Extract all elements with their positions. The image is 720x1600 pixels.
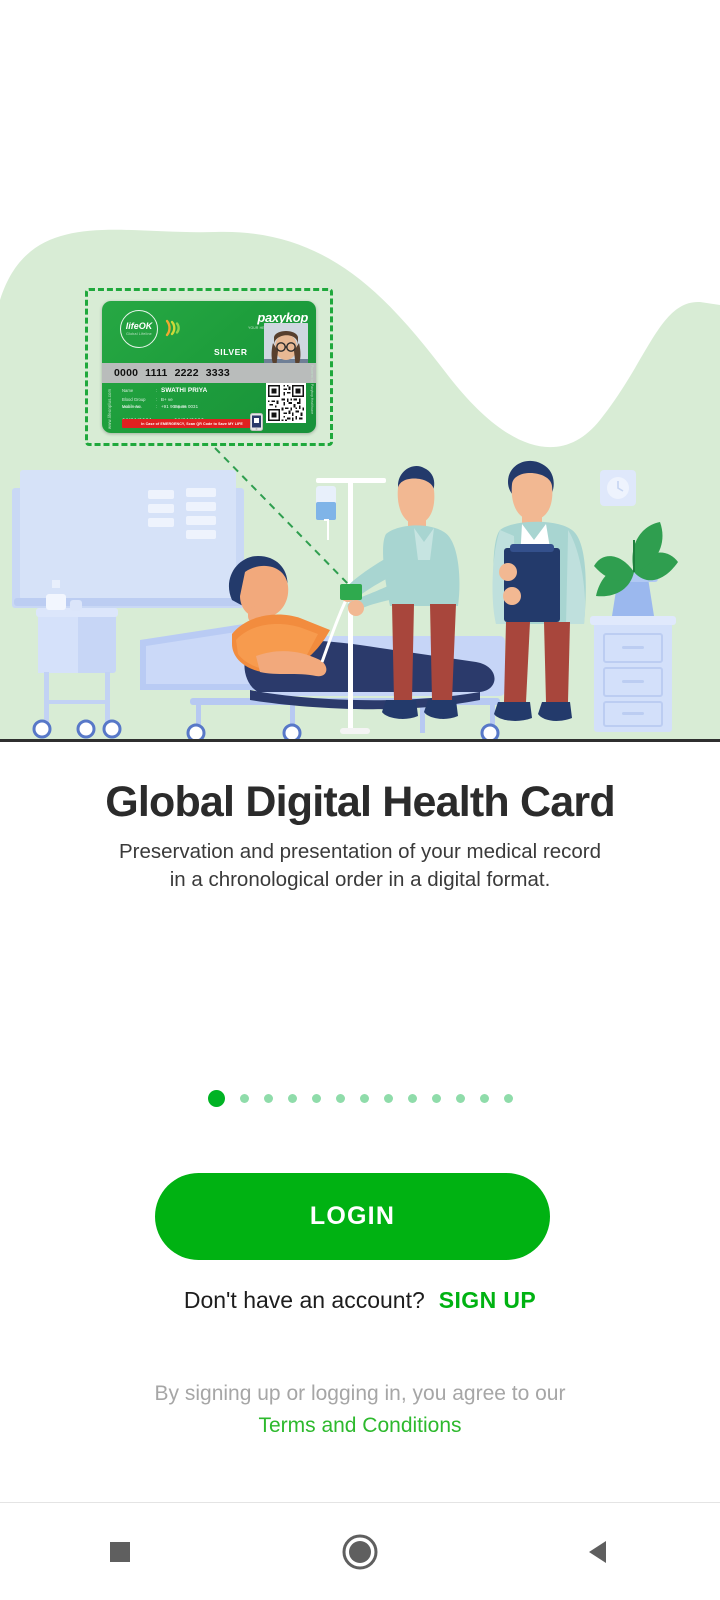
- carousel-dot-5[interactable]: [336, 1094, 345, 1103]
- digital-health-card: www.lifeonplus.com lifeOK Global Lifelin…: [102, 301, 316, 433]
- emergency-banner: In Case of EMERGENCY, Scan QR Code to Sa…: [122, 419, 262, 428]
- carousel-dot-1[interactable]: [240, 1094, 249, 1103]
- phone-scan-icon: [250, 413, 263, 431]
- recents-square-icon: [107, 1539, 133, 1565]
- field-label: Blood Group: [122, 397, 156, 402]
- qr-code-icon: [266, 383, 306, 423]
- signup-prompt-row: Don't have an account? SIGN UP: [0, 1287, 720, 1314]
- carousel-dot-2[interactable]: [264, 1094, 273, 1103]
- carousel-dot-7[interactable]: [384, 1094, 393, 1103]
- expires-label: Expires: [174, 405, 204, 409]
- back-triangle-icon: [585, 1537, 615, 1567]
- health-card-callout: www.lifeonplus.com lifeOK Global Lifelin…: [85, 288, 333, 446]
- login-button[interactable]: LOGIN: [155, 1173, 550, 1260]
- card-number-group-2: 1111: [145, 367, 167, 379]
- logo-primary-text: lifeOK: [126, 322, 153, 331]
- recents-button[interactable]: [65, 1517, 175, 1587]
- hero-illustration-area: www.lifeonplus.com lifeOK Global Lifelin…: [0, 0, 720, 742]
- carousel-dot-3[interactable]: [288, 1094, 297, 1103]
- carousel-dot-8[interactable]: [408, 1094, 417, 1103]
- back-button[interactable]: [545, 1517, 655, 1587]
- signup-question: Don't have an account?: [184, 1287, 425, 1314]
- carousel-dot-12[interactable]: [504, 1094, 513, 1103]
- subtitle-line-2: in a chronological order in a digital fo…: [0, 866, 720, 894]
- carousel-dot-0[interactable]: [208, 1090, 225, 1107]
- terms-disclaimer: By signing up or logging in, you agree t…: [0, 1378, 720, 1410]
- card-number-group-3: 2222: [175, 367, 199, 379]
- field-value: B+ ve: [161, 397, 173, 402]
- card-tier-badge: SILVER: [214, 347, 248, 357]
- carousel-dot-4[interactable]: [312, 1094, 321, 1103]
- page-subtitle: Preservation and presentation of your me…: [0, 838, 720, 894]
- terms-block: By signing up or logging in, you agree t…: [0, 1378, 720, 1442]
- card-field-row: Blood Group : B+ ve: [122, 397, 242, 402]
- subtitle-line-1: Preservation and presentation of your me…: [0, 838, 720, 866]
- card-number-group-1: 0000: [114, 367, 138, 379]
- valid-from-label: Valid From: [122, 405, 152, 409]
- android-navigation-bar: [0, 1502, 720, 1600]
- carousel-dot-6[interactable]: [360, 1094, 369, 1103]
- hero-baseline-divider: [0, 739, 720, 742]
- card-number: 0000 1111 2222 3333: [114, 365, 264, 381]
- card-vertical-note: Powered by Paxykop Healthcare: [306, 365, 314, 419]
- onboarding-screen: www.lifeonplus.com lifeOK Global Lifelin…: [0, 0, 720, 1600]
- carousel-dot-9[interactable]: [432, 1094, 441, 1103]
- field-value: SWATHI PRIYA: [161, 387, 207, 394]
- logo-secondary-text: Global Lifeline: [126, 332, 152, 336]
- carousel-pagination-dots[interactable]: [0, 1090, 720, 1107]
- page-title: Global Digital Health Card: [0, 778, 720, 827]
- field-label: Name: [122, 388, 156, 393]
- card-number-group-4: 3333: [206, 367, 230, 379]
- terms-and-conditions-link[interactable]: Terms and Conditions: [0, 1410, 720, 1442]
- signup-link[interactable]: SIGN UP: [439, 1287, 536, 1314]
- carousel-dot-10[interactable]: [456, 1094, 465, 1103]
- card-field-row: Name : SWATHI PRIYA: [122, 387, 242, 394]
- carousel-dot-11[interactable]: [480, 1094, 489, 1103]
- nfc-wave-icon: [162, 317, 184, 339]
- home-circle-icon: [341, 1533, 379, 1571]
- lifeok-logo: lifeOK Global Lifeline: [120, 310, 158, 348]
- home-button[interactable]: [305, 1517, 415, 1587]
